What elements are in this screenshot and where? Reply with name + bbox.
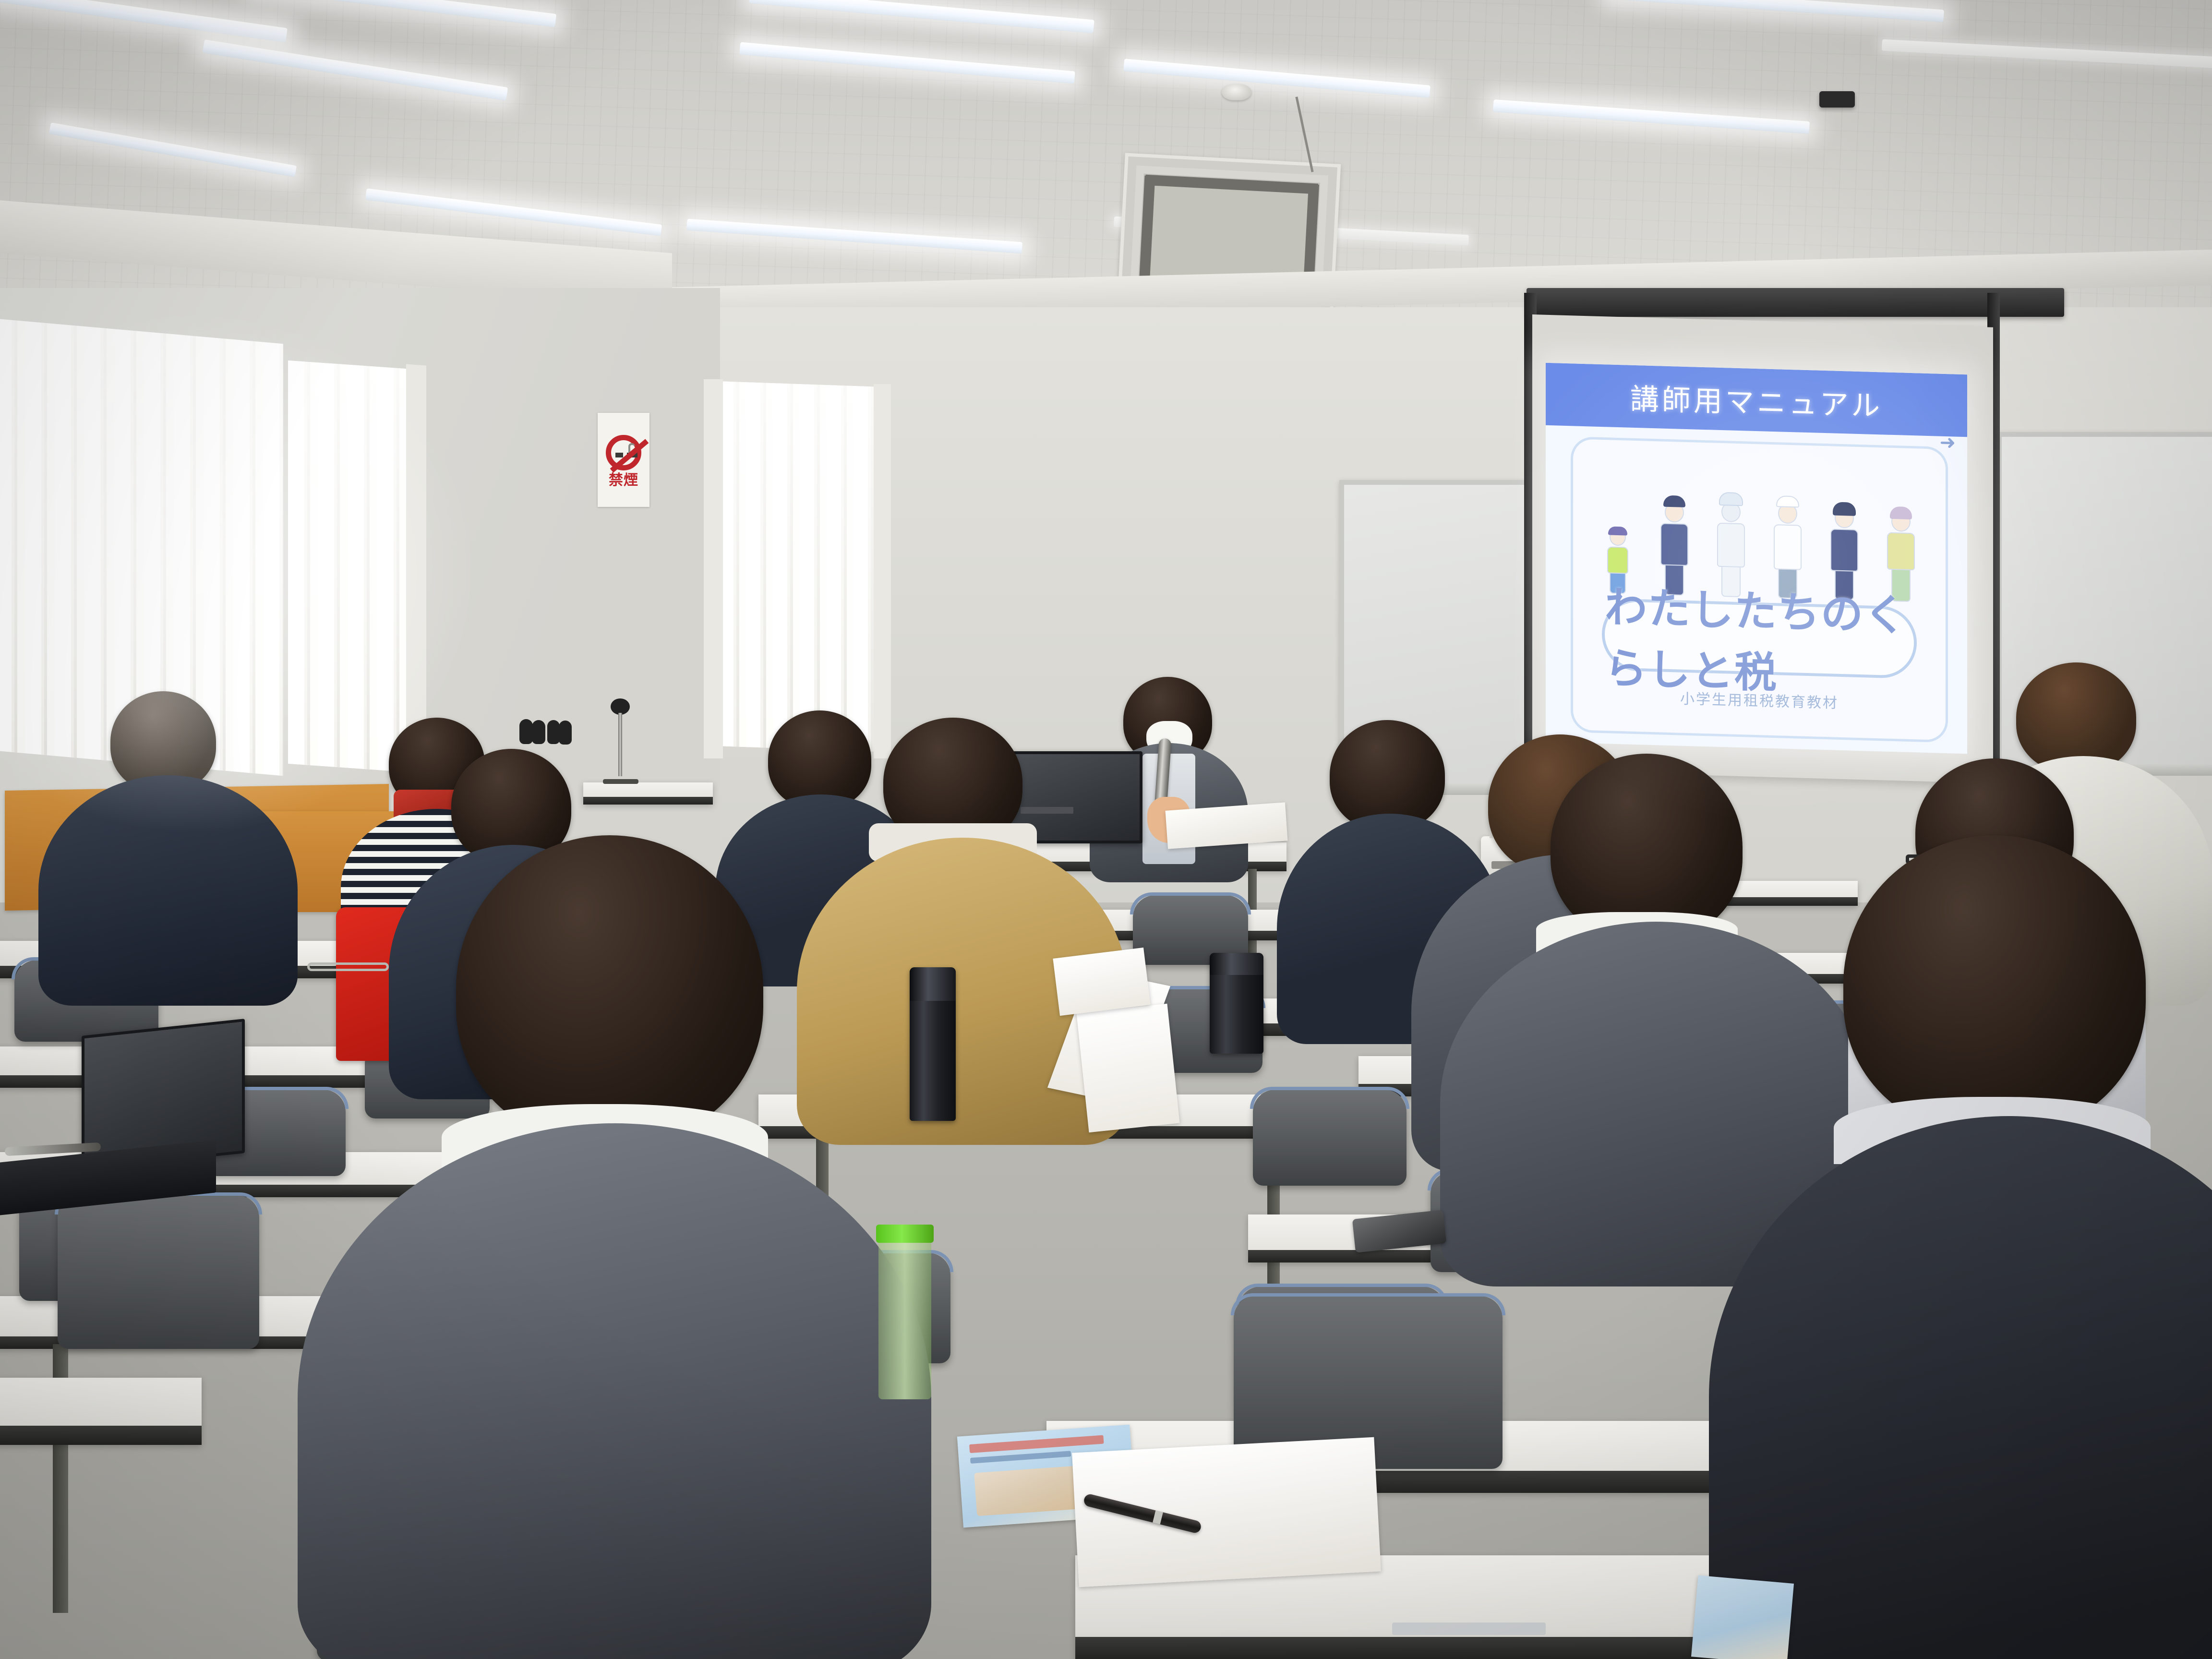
chair-trim [1231,1293,1505,1315]
projection-screen-housing [1527,288,2064,317]
shoulders [298,1123,931,1659]
booklet-cover-line [970,1451,1071,1464]
slide-main-title: わたしたちのくらしと税 [1605,573,1914,704]
torso [1660,523,1688,566]
microphone-head-icon [547,720,560,744]
firefighter-helmet-icon [1719,492,1743,506]
hair-icon [1890,506,1912,519]
handout-in-hand [1076,1004,1179,1132]
window-near-podium [719,381,878,752]
bottle-cap [876,1225,934,1243]
desk-foreground-left [0,1378,202,1445]
seminar-room-photo: 禁煙 講師用マニュアル ➜ [0,0,2212,1659]
chair [1253,1090,1407,1186]
torso [1607,546,1628,574]
slide-content-card: わたしたちのくらしと税 小学生用租税教育教材 小学校学習指導要領準拠 [1571,436,1948,743]
booklet-cover-image [974,1465,1087,1516]
hair-icon [1833,502,1856,516]
next-arrow-icon: ➜ [1939,432,1956,454]
window-glow [719,381,878,752]
chair-trim [1130,892,1251,914]
shoulders [1709,1116,2212,1659]
booklet-cover-title [969,1435,1104,1453]
slide-title-pill: わたしたちのくらしと税 [1602,598,1917,679]
thermos-cap [1210,953,1263,975]
cap-icon [1776,495,1799,507]
chair-foreground [58,1195,259,1349]
attendee-grey-suit-foreground [298,835,931,1659]
no-smoking-label: 禁煙 [609,473,638,488]
attendee-navy-jacket [38,691,307,1008]
torso [1774,524,1802,570]
slide-header-title: 講師用マニュアル [1630,375,1883,424]
torso [1887,532,1915,571]
desk-label-strip [1392,1623,1546,1635]
window-frame-post [704,379,723,758]
head [456,835,763,1142]
torso [1830,529,1858,572]
torso [1717,523,1745,568]
hair-icon [1608,526,1627,535]
no-smoking-icon [606,435,641,470]
attendee-dark-suit-foreground-right [1709,835,2212,1659]
slide-header-band: 講師用マニュアル [1546,363,1967,437]
head [1843,835,2146,1133]
shoulders [38,775,298,1006]
presentation-slide: 講師用マニュアル ➜ [1546,363,1967,754]
microphone-head-icon [611,698,630,715]
window-frame-post [874,384,891,758]
pen-ring [1153,1510,1163,1524]
thermos-flask-centre [1210,953,1263,1054]
no-smoking-sign: 禁煙 [598,413,649,507]
table-edge [0,1426,202,1445]
police-cap-icon [1663,495,1685,507]
booklet-right-edge [1691,1575,1794,1659]
smoke-detector-icon [1222,84,1251,100]
handout-on-desk [1053,948,1150,1016]
green-tea-bottle [878,1241,931,1399]
window-frame-mullion [406,364,426,779]
microphone-head-icon [559,721,572,745]
chair-trim [1250,1087,1409,1109]
ceiling-speaker [1819,91,1855,108]
projection-screen: 講師用マニュアル ➜ [1532,314,1993,783]
